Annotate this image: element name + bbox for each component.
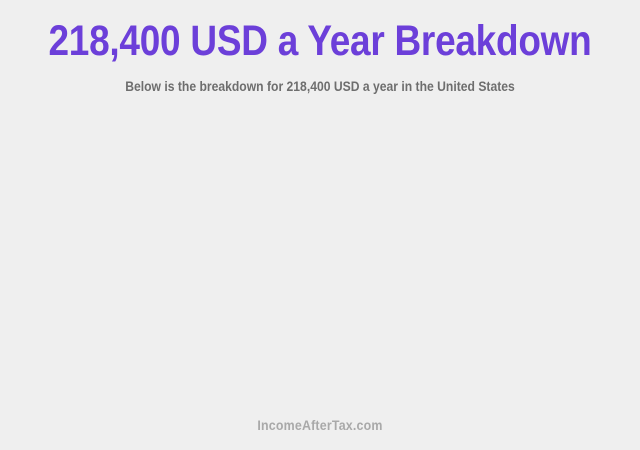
site-brand-label: IncomeAfterTax.com xyxy=(26,418,615,433)
page-title: 218,400 USD a Year Breakdown xyxy=(45,18,595,64)
page-root: 218,400 USD a Year Breakdown Below is th… xyxy=(0,0,640,450)
breakdown-chart-area xyxy=(0,95,640,418)
page-subtitle: Below is the breakdown for 218,400 USD a… xyxy=(32,64,608,95)
page-footer: IncomeAfterTax.com xyxy=(0,418,640,450)
page-header: 218,400 USD a Year Breakdown Below is th… xyxy=(0,0,640,95)
